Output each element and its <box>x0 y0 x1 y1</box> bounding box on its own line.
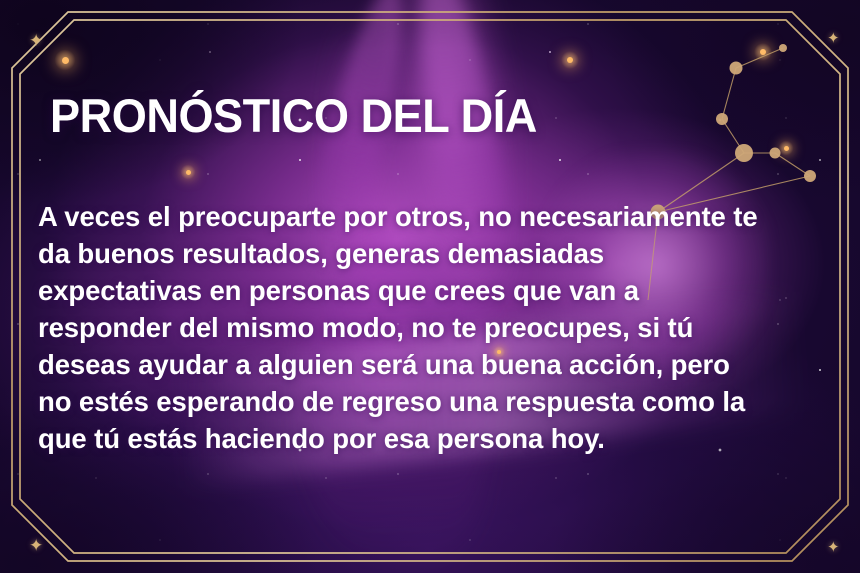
forecast-line: responder del mismo modo, no te preocupe… <box>38 309 838 346</box>
poster-content: PRONÓSTICO DEL DÍA A veces el preocupart… <box>0 0 860 573</box>
page-title: PRONÓSTICO DEL DÍA <box>50 88 537 143</box>
forecast-line: no estés esperando de regreso una respue… <box>38 383 838 420</box>
forecast-line: deseas ayudar a alguien será una buena a… <box>38 346 838 383</box>
forecast-line: que tú estás haciendo por esa persona ho… <box>38 420 838 457</box>
forecast-line: A veces el preocuparte por otros, no nec… <box>38 198 838 235</box>
forecast-line: da buenos resultados, generas demasiadas <box>38 235 838 272</box>
horoscope-poster: ✦✦✦✦ PRONÓSTICO DEL DÍA A veces el preoc… <box>0 0 860 573</box>
forecast-line: expectativas en personas que crees que v… <box>38 272 838 309</box>
forecast-body-text: A veces el preocuparte por otros, no nec… <box>38 198 838 457</box>
